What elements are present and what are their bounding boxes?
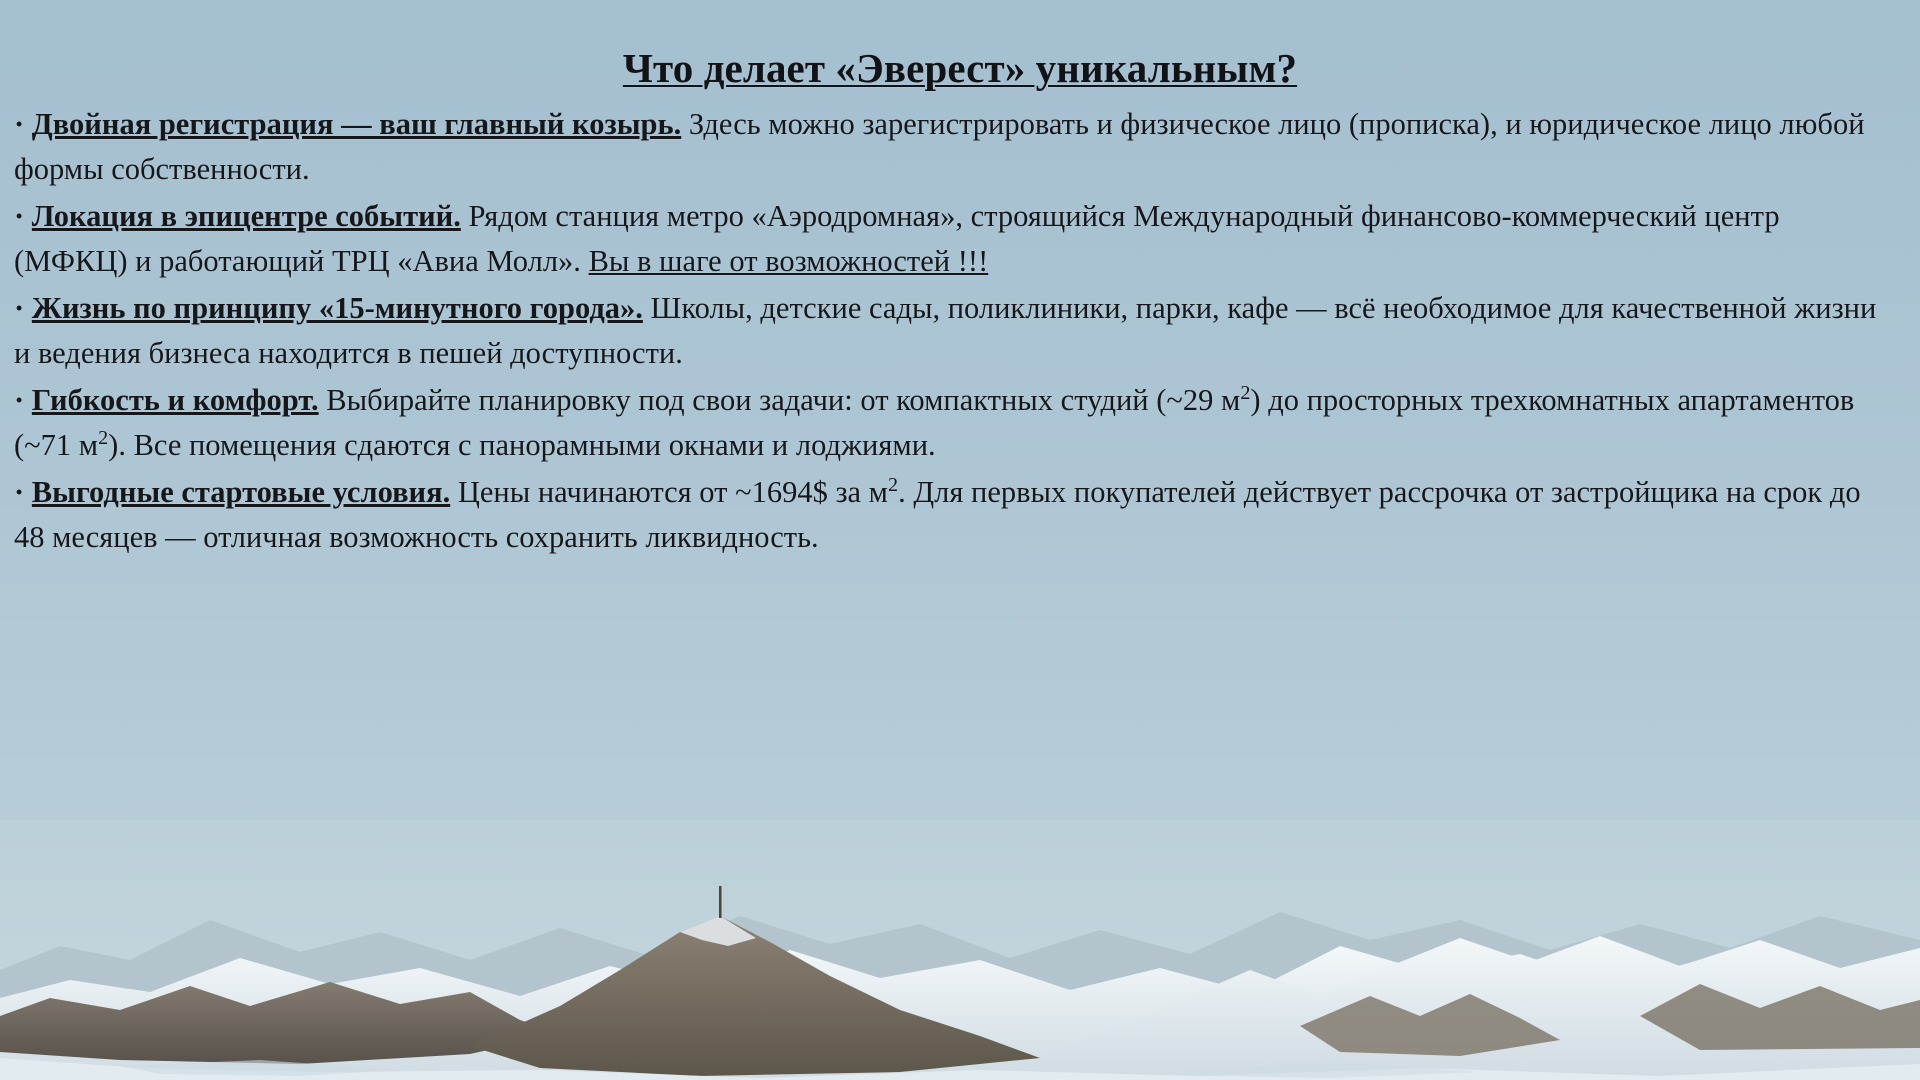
- bullet-marker: ·: [14, 199, 24, 233]
- bullet-lead-1: Двойная регистрация — ваш главный козырь…: [32, 107, 681, 141]
- bullet-marker: ·: [14, 475, 24, 509]
- square-meter-superscript: 2: [1240, 382, 1250, 404]
- square-meter-superscript: 2: [888, 474, 898, 496]
- bullet-marker: ·: [14, 107, 24, 141]
- bullet-body-5a: Цены начинаются от ~1694$ за м: [450, 475, 888, 509]
- bullet-marker: ·: [14, 383, 24, 417]
- bullet-lead-4: Гибкость и комфорт.: [32, 383, 319, 417]
- bullet-list: · Двойная регистрация — ваш главный козы…: [0, 102, 1920, 560]
- slide-content: Что делает «Эверест» уникальным? · Двойн…: [0, 0, 1920, 562]
- bullet-lead-5: Выгодные стартовые условия.: [32, 475, 450, 509]
- bullet-lead-3: Жизнь по принципу «15-минутного города».: [32, 291, 643, 325]
- list-item: · Локация в эпицентре событий. Рядом ста…: [14, 194, 1898, 284]
- mountain-photo: [0, 820, 1920, 1080]
- bullet-lead-2: Локация в эпицентре событий.: [32, 199, 461, 233]
- square-meter-superscript: 2: [98, 427, 108, 449]
- list-item: · Жизнь по принципу «15-минутного города…: [14, 286, 1898, 376]
- bullet-tail-emphasis: Вы в шаге от возможностей !!!: [589, 244, 989, 278]
- bullet-body-4a: Выбирайте планировку под свои задачи: от…: [319, 383, 1241, 417]
- list-item: · Выгодные стартовые условия. Цены начин…: [14, 470, 1898, 560]
- page-title: Что делает «Эверест» уникальным?: [0, 44, 1920, 92]
- list-item: · Гибкость и комфорт. Выбирайте планиров…: [14, 378, 1898, 468]
- bullet-marker: ·: [14, 291, 24, 325]
- list-item: · Двойная регистрация — ваш главный козы…: [14, 102, 1898, 192]
- bullet-body-4c: ). Все помещения сдаются с панорамными о…: [108, 428, 936, 462]
- presentation-slide: Что делает «Эверест» уникальным? · Двойн…: [0, 0, 1920, 1080]
